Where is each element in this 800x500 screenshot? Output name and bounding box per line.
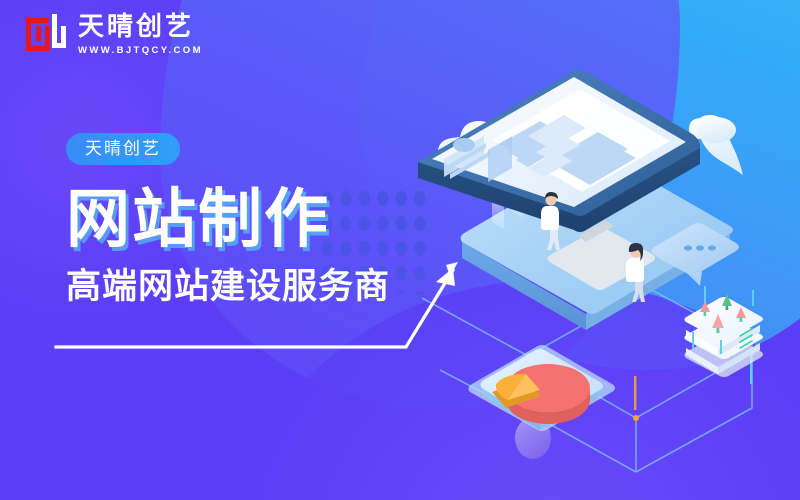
- logo-company-name: 天晴创艺: [78, 13, 203, 39]
- logo-website-url: WWW.BJTQCY.COM: [78, 45, 203, 56]
- page-subtitle: 高端网站建设服务商: [66, 269, 390, 304]
- page-title: 网站制作: [66, 187, 390, 251]
- headline-block: 天晴创艺 网站制作 高端网站建设服务商: [66, 133, 390, 304]
- brand-badge: 天晴创艺: [66, 133, 180, 165]
- logo-text-block: 天晴创艺 WWW.BJTQCY.COM: [78, 13, 203, 56]
- site-logo[interactable]: 天晴创艺 WWW.BJTQCY.COM: [24, 12, 203, 56]
- promo-banner: 天晴创艺 WWW.BJTQCY.COM 天晴创艺 网站制作 高端网站建设服务商: [0, 0, 800, 500]
- pie-chart-panel: [468, 345, 615, 431]
- logo-mark-icon: [24, 12, 68, 56]
